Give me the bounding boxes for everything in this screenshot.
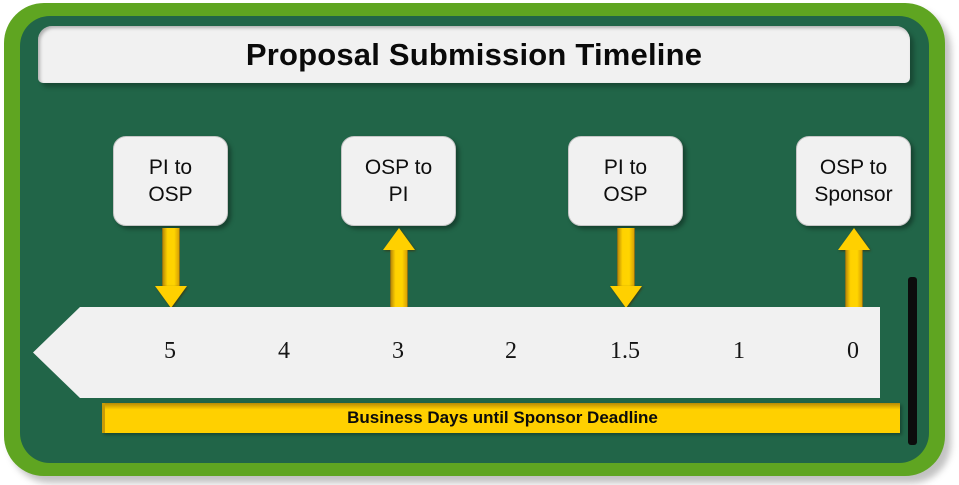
stage-arrow-down-1	[155, 228, 187, 308]
axis-caption-bar: Business Days until Sponsor Deadline	[102, 403, 900, 433]
stage-label-4: OSP to Sponsor	[796, 136, 911, 226]
timeline-diagram: Proposal Submission Timeline PI to OSP O…	[0, 0, 959, 485]
tick-label-0: 0	[823, 338, 883, 365]
tick-label-1: 1	[709, 338, 769, 365]
stage-arrow-up-4	[838, 228, 870, 308]
stage-label-2-line2: PI	[389, 181, 409, 208]
stage-arrow-down-3	[610, 228, 642, 308]
stage-label-1: PI to OSP	[113, 136, 228, 226]
stage-label-3-line2: OSP	[603, 181, 647, 208]
tick-label-3: 3	[368, 338, 428, 365]
stage-label-1-line2: OSP	[148, 181, 192, 208]
axis-caption-label: Business Days until Sponsor Deadline	[347, 408, 658, 428]
tick-label-5: 5	[140, 338, 200, 365]
tick-label-4: 4	[254, 338, 314, 365]
stage-label-4-line2: Sponsor	[814, 181, 892, 208]
stage-label-2-line1: OSP to	[365, 154, 432, 181]
stage-label-3-line1: PI to	[604, 154, 647, 181]
tick-label-1p5: 1.5	[595, 338, 655, 365]
stage-label-1-line1: PI to	[149, 154, 192, 181]
stage-label-4-line1: OSP to	[820, 154, 887, 181]
title-plaque: Proposal Submission Timeline	[38, 26, 910, 83]
timeline-tick-layer: 5 4 3 2 1.5 1 0	[33, 307, 880, 398]
page-title: Proposal Submission Timeline	[246, 37, 702, 73]
stage-arrow-up-2	[383, 228, 415, 308]
tick-label-2: 2	[481, 338, 541, 365]
stage-label-2: OSP to PI	[341, 136, 456, 226]
stage-label-3: PI to OSP	[568, 136, 683, 226]
sponsor-deadline-marker	[908, 277, 917, 445]
